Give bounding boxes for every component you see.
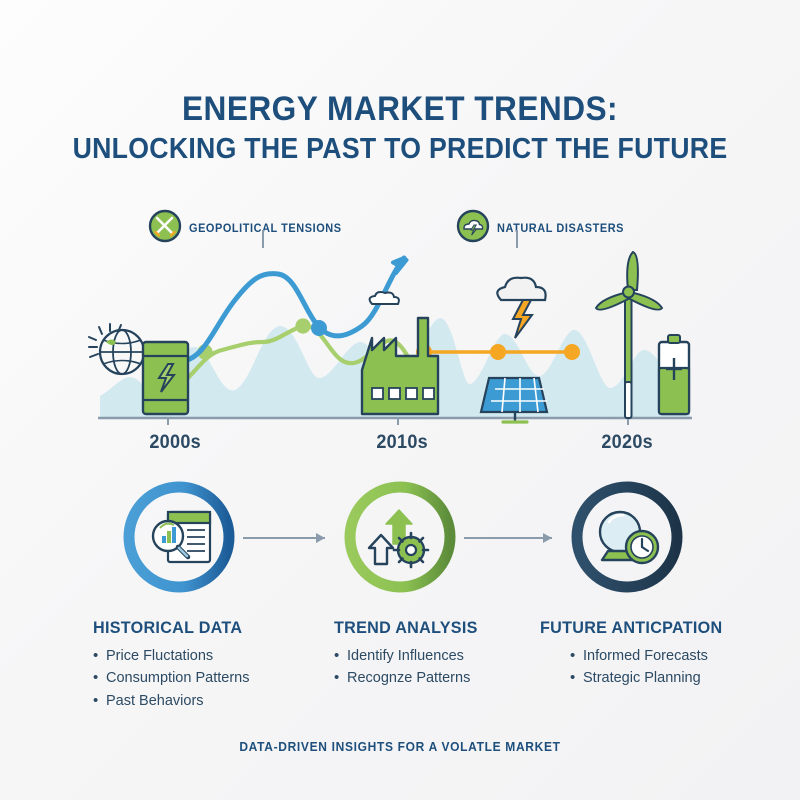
list-item: Informed Forecasts	[570, 645, 732, 667]
chart-dot-green-two	[295, 318, 310, 333]
list-item: Strategic Planning	[570, 667, 732, 689]
step-text-historical-data: HISTORICAL DATA Price Fluctations Consum…	[93, 618, 250, 712]
crystal-ball-clock-icon	[600, 512, 658, 563]
chart-arrow-blue	[393, 258, 407, 273]
factory-icon	[14, 230, 438, 414]
storm-cloud-lightning-icon	[497, 278, 545, 338]
step-text-trend-analysis: TREND ANALYSIS Identify Influences Recog…	[334, 618, 485, 690]
page-title: ENERGY MARKET TRENDS:	[28, 92, 772, 128]
step-bullet-list: Price Fluctations Consumption Patterns P…	[93, 645, 250, 712]
battery-icon	[659, 335, 689, 414]
chart-dot-amber-3	[564, 344, 580, 360]
list-item: Recognze Patterns	[334, 667, 485, 689]
oil-barrel-energy-icon	[143, 342, 188, 414]
footer-tagline: DATA-DRIVEN INSIGHTS FOR A VOLATLE MARKE…	[16, 740, 784, 754]
step-connector-arrow	[464, 530, 562, 551]
decade-label-2020s: 2020s	[601, 432, 653, 454]
step-bullet-list: Identify Influences Recognze Patterns	[334, 645, 485, 690]
list-item: Past Behaviors	[93, 690, 250, 712]
infographic-canvas: ENERGY MARKET TRENDS: UNLOCKING THE PAST…	[0, 0, 800, 800]
decade-label-2010s: 2010s	[376, 432, 428, 454]
step-connector-arrow	[243, 530, 335, 551]
chart-dot-amber-2	[490, 344, 506, 360]
globe-spark-icon	[89, 324, 144, 374]
list-item: Identify Influences	[334, 645, 485, 667]
decade-label-2000s: 2000s	[149, 432, 201, 454]
title-block: ENERGY MARKET TRENDS: UNLOCKING THE PAST…	[0, 92, 800, 166]
list-item: Consumption Patterns	[93, 667, 250, 689]
arrows-gear-icon	[369, 510, 428, 567]
step-title: FUTURE ANTICPATION	[540, 618, 722, 638]
step-text-future-anticipation: FUTURE ANTICPATION Informed Forecasts St…	[540, 618, 732, 690]
energy-timeline-chart	[0, 230, 800, 425]
page-subtitle: UNLOCKING THE PAST TO PREDICT THE FUTURE	[32, 134, 768, 166]
document-magnifier-chart-icon	[153, 512, 210, 562]
process-steps	[0, 478, 800, 603]
step-title: HISTORICAL DATA	[93, 618, 242, 638]
step-circle-historical-data	[120, 478, 238, 596]
step-circle-trend-analysis	[341, 478, 459, 596]
step-circle-future-anticipation	[568, 478, 686, 596]
step-bullet-list: Informed Forecasts Strategic Planning	[540, 645, 732, 690]
list-item: Price Fluctations	[93, 645, 250, 667]
chart-dot-blue	[311, 320, 327, 336]
step-title: TREND ANALYSIS	[334, 618, 478, 638]
